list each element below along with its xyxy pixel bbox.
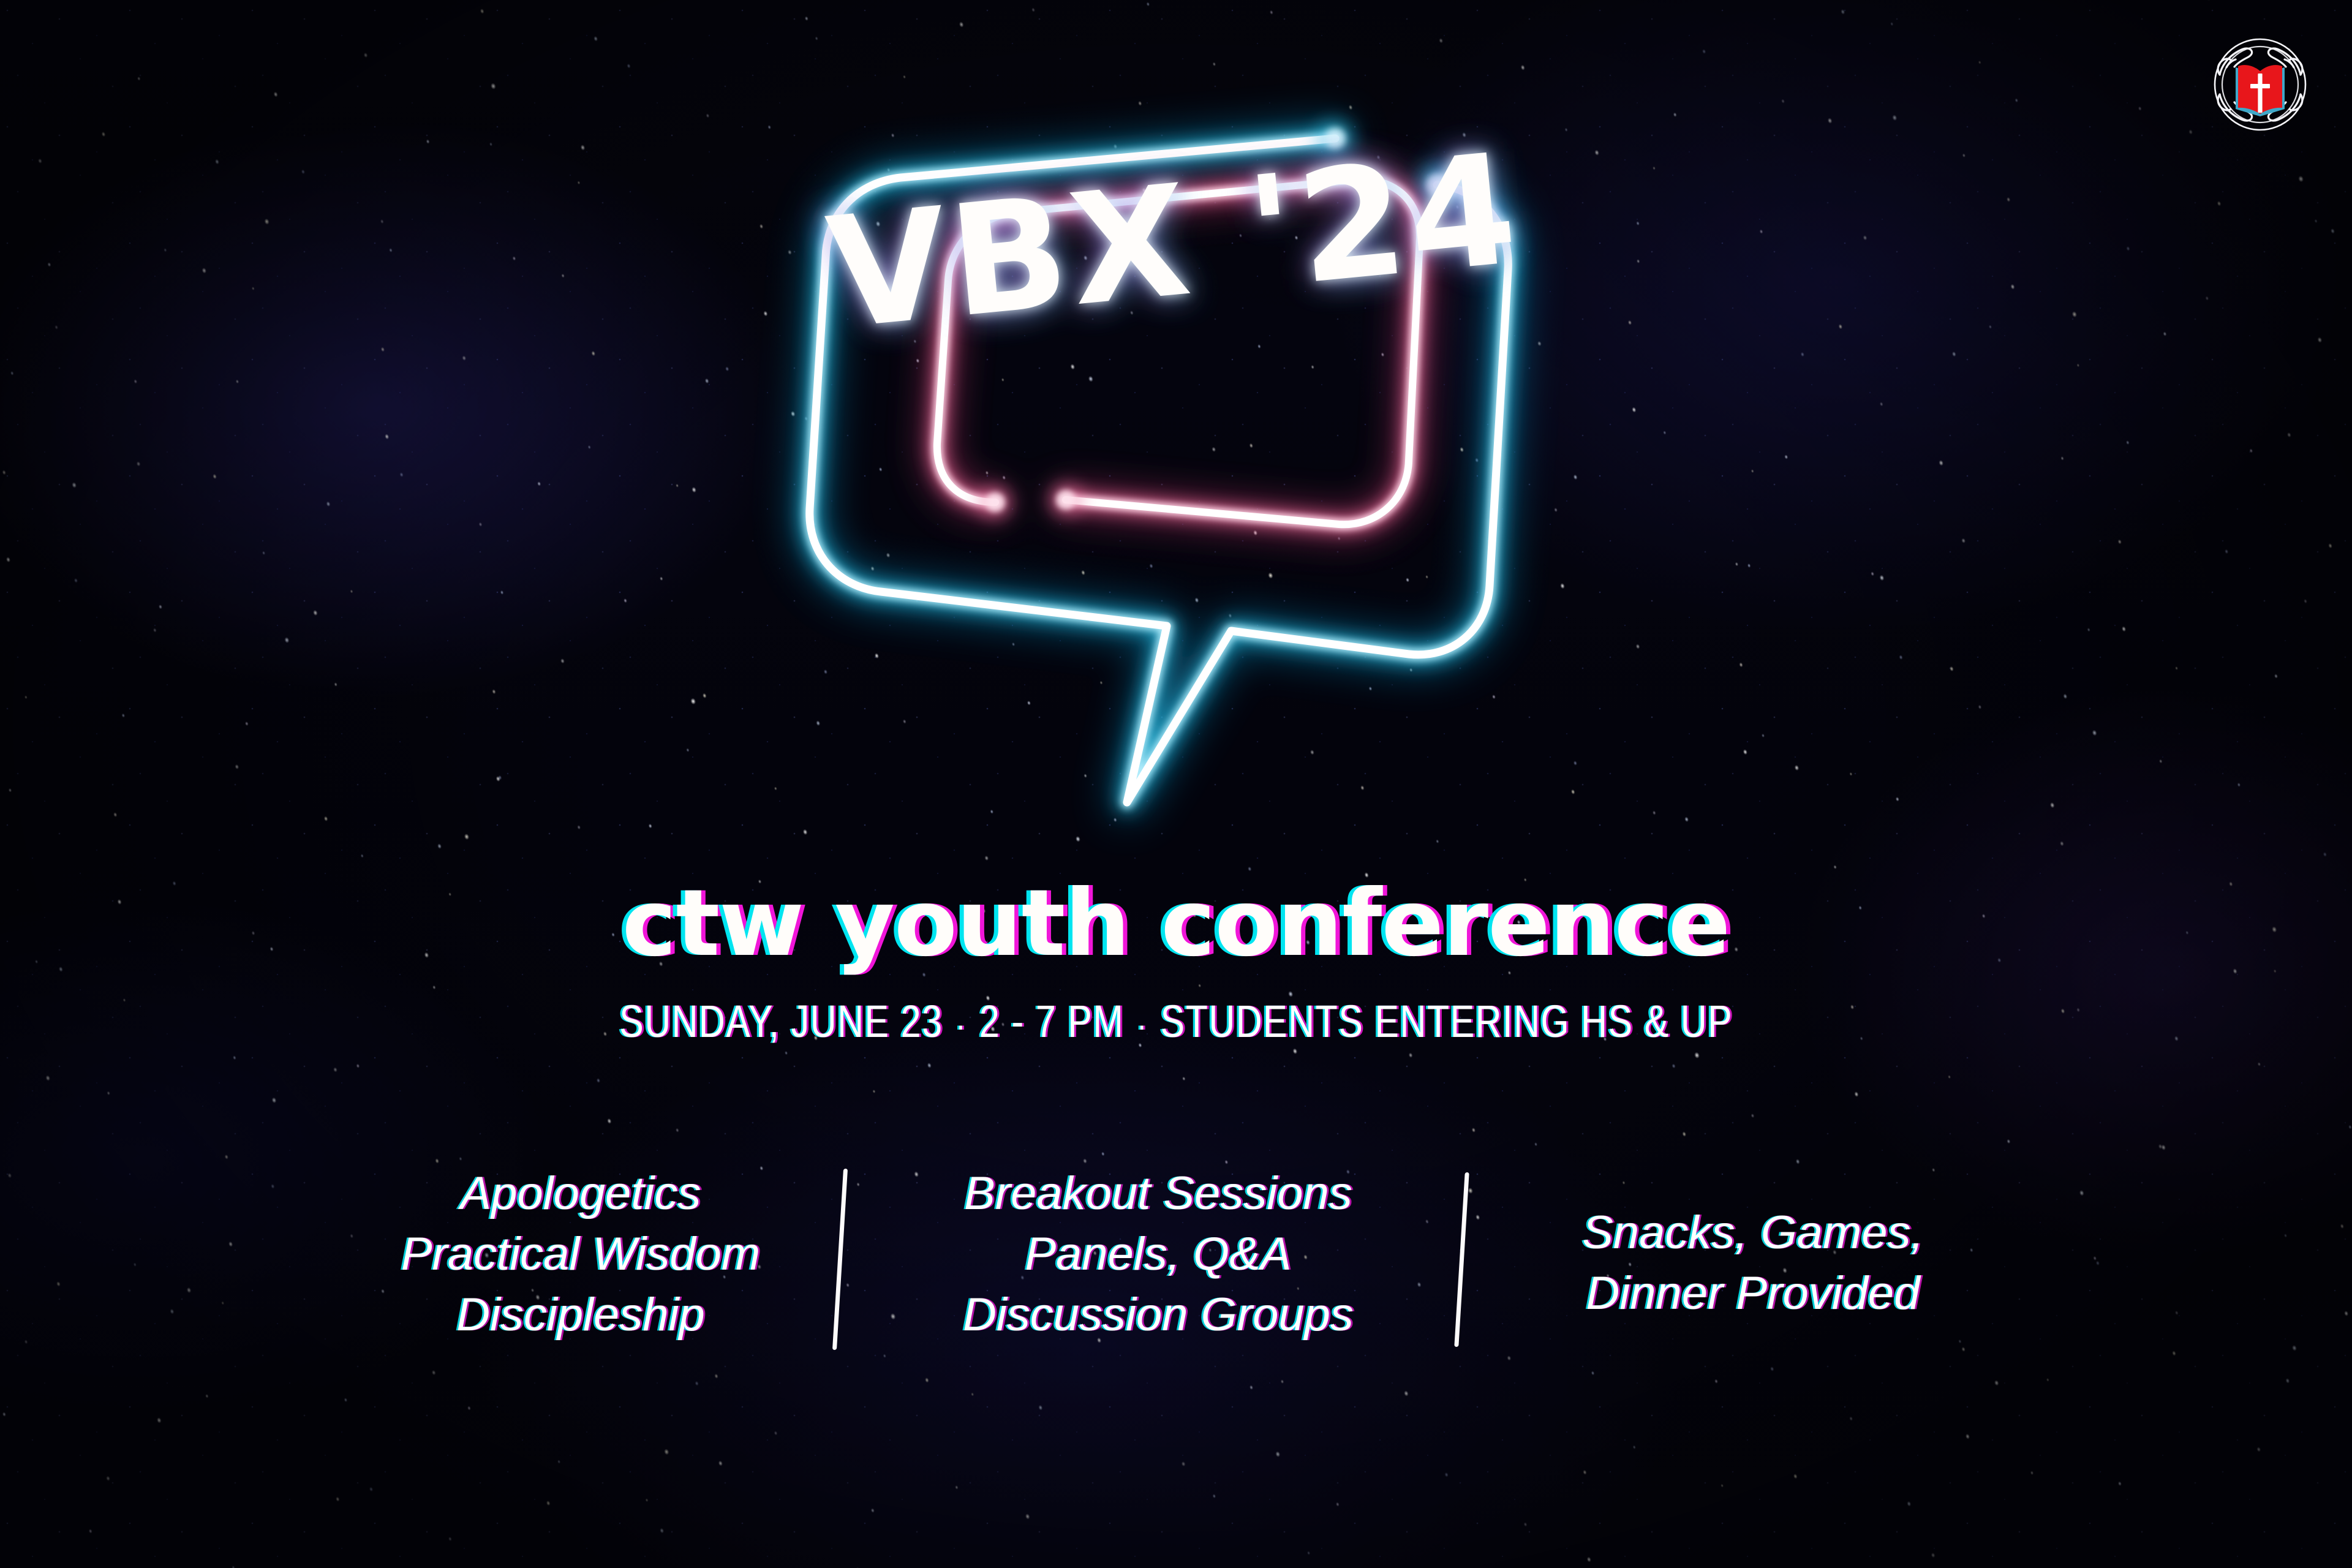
column-topics: Apologetics Practical Wisdom Discipleshi… [366, 1164, 795, 1345]
column-amenities: Snacks, Games, Dinner Provided [1520, 1164, 1986, 1324]
wordmark-text: ctw youth conference [622, 878, 1730, 970]
column-divider-1 [832, 1169, 848, 1350]
logo-svg [2199, 23, 2321, 146]
event-details-inner: SUNDAY, JUNE 23·2 - 7 PM·STUDENTS ENTERI… [619, 995, 1733, 1047]
neon-inner-endcaps [977, 481, 1084, 521]
poster-canvas: VBX '24 VBX '24 VBX '24 VBX '24 ctw yout… [0, 0, 2352, 1568]
event-time: 2 - 7 PM [979, 996, 1125, 1047]
event-date: SUNDAY, JUNE 23 [619, 996, 943, 1047]
column-line: Snacks, Games, [1520, 1203, 1986, 1264]
page-title: ctw youth conference [0, 878, 2352, 970]
neon-speech-bubble: VBX '24 VBX '24 VBX '24 VBX '24 [612, 80, 1715, 876]
column-line: Dinner Provided [1520, 1264, 1986, 1324]
column-line: Breakout Sessions [895, 1164, 1422, 1224]
separator-dot-2: · [1124, 1005, 1160, 1046]
column-line: Apologetics [366, 1164, 795, 1224]
column-line: Practical Wisdom [366, 1224, 795, 1285]
column-format: Breakout Sessions Panels, Q&A Discussion… [895, 1164, 1422, 1345]
feature-columns: Apologetics Practical Wisdom Discipleshi… [0, 1164, 2352, 1350]
event-details-line: SUNDAY, JUNE 23·2 - 7 PM·STUDENTS ENTERI… [0, 995, 2352, 1047]
event-audience: STUDENTS ENTERING HS & UP [1160, 996, 1733, 1047]
separator-dot-1: · [943, 1005, 979, 1046]
column-line: Discipleship [366, 1285, 795, 1346]
column-divider-2 [1454, 1172, 1469, 1347]
column-line: Discussion Groups [895, 1285, 1422, 1346]
hands-circle-bible-cross-logo [2199, 23, 2321, 146]
column-line: Panels, Q&A [895, 1224, 1422, 1285]
neon-sign-svg: VBX '24 VBX '24 VBX '24 VBX '24 [612, 80, 1715, 876]
